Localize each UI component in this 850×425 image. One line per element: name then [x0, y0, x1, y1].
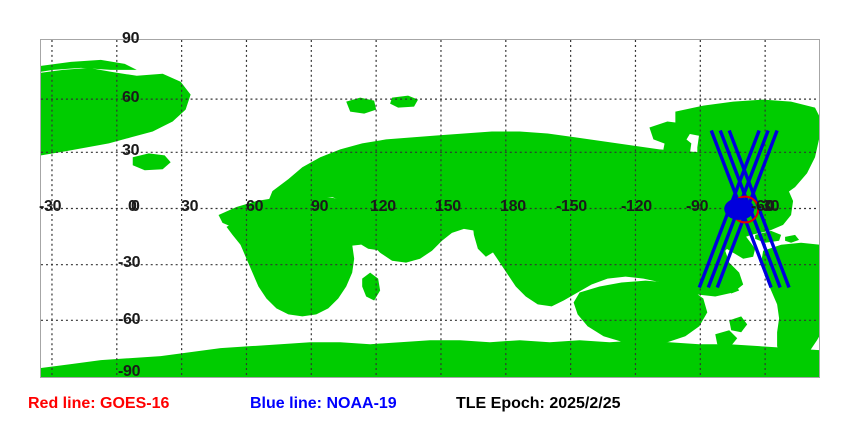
lon-label-180: 180	[500, 199, 526, 215]
lat-label-m60: -60	[118, 312, 140, 328]
figure-canvas: 90 60 30 0 -30 -60 -90 -30 0 30 60 90 12…	[0, 0, 850, 425]
lat-label-60: 60	[122, 90, 139, 106]
lon-label-m90: -90	[686, 199, 708, 215]
legend-bar: Red line: GOES-16 Blue line: NOAA-19 TLE…	[0, 394, 850, 420]
legend-red-line-goes16: Red line: GOES-16	[28, 396, 169, 412]
lon-label-0-east: 0	[766, 199, 775, 215]
lon-label-0: 0	[128, 199, 137, 215]
lat-label-m30: -30	[118, 255, 140, 271]
lon-label-m120: -120	[621, 199, 652, 215]
lon-label-90: 90	[311, 199, 328, 215]
noaa19-marker	[724, 198, 754, 220]
lon-label-m150: -150	[556, 199, 587, 215]
lon-label-m30-west: -30	[39, 199, 61, 215]
legend-tle-epoch: TLE Epoch: 2025/2/25	[456, 396, 621, 412]
lat-label-30: 30	[122, 143, 139, 159]
lon-label-150: 150	[435, 199, 461, 215]
lon-label-30: 30	[181, 199, 198, 215]
lon-label-60: 60	[246, 199, 263, 215]
legend-blue-line-noaa19: Blue line: NOAA-19	[250, 396, 397, 412]
lon-label-120: 120	[370, 199, 396, 215]
lat-label-m90: -90	[118, 364, 140, 380]
lat-label-90: 90	[122, 31, 139, 47]
